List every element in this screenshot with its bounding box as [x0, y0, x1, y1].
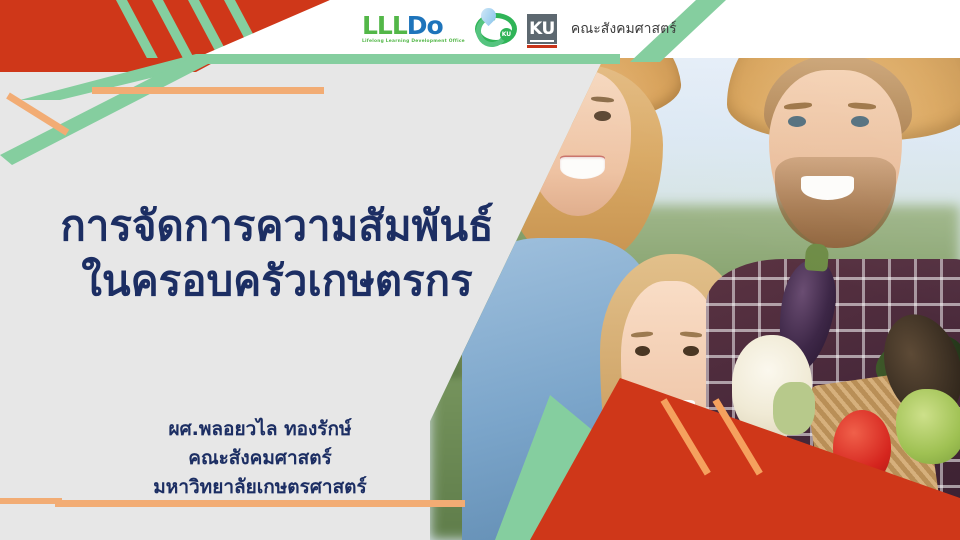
byline-faculty: คณะสังคมศาสตร์ [30, 444, 490, 473]
mother-eye-left [544, 111, 560, 121]
ku-mini-badge: KU [500, 28, 513, 41]
father-eye-left [788, 116, 806, 127]
lllo-word-secondary: Do [407, 11, 443, 40]
orange-diagonal-line [6, 93, 69, 136]
green-slash-4 [224, 0, 266, 58]
tomato-small-icon [769, 448, 817, 513]
orange-line-top [92, 87, 324, 94]
ku-infinity-logo-icon: KU [475, 11, 517, 47]
slide-title: การจัดการความสัมพันธ์ ในครอบครัวเกษตรกร [22, 198, 532, 309]
ku-mark: KU [527, 14, 557, 44]
lllo-wordmark: LLLDo [362, 13, 443, 38]
byline-university: มหาวิทยาลัยเกษตรศาสตร์ [30, 473, 490, 502]
mother-eye-right [594, 111, 610, 121]
faculty-name-header: คณะสังคมศาสตร์ [571, 18, 677, 40]
tomato-icon [833, 410, 891, 486]
lllo-logo: LLLDo Lifelong Learning Development Offi… [362, 13, 465, 44]
ku-red-underline [527, 45, 557, 48]
green-slash-3 [188, 0, 230, 58]
lllo-word-primary: LLL [362, 11, 407, 40]
lettuce-icon [896, 389, 960, 465]
byline-block: ผศ.พลอยวไล ทองรักษ์ คณะสังคมศาสตร์ มหาวิ… [30, 415, 490, 502]
top-left-red-wedge [0, 0, 330, 72]
mother-eyebrow-left [540, 96, 564, 104]
green-slash-1 [116, 0, 158, 58]
green-slash-2 [152, 0, 194, 58]
radish-icon [727, 432, 764, 481]
lllo-subtitle: Lifelong Learning Development Office [362, 40, 465, 44]
slide-canvas: LLLDo Lifelong Learning Development Offi… [0, 0, 960, 540]
cauliflower-icon [732, 335, 812, 438]
ku-logo: KU [527, 14, 557, 44]
top-left-green-diagonal [0, 55, 230, 165]
byline-presenter: ผศ.พลอยวไล ทองรักษ์ [30, 415, 490, 444]
header-logo-group: LLLDo Lifelong Learning Development Offi… [362, 8, 677, 50]
